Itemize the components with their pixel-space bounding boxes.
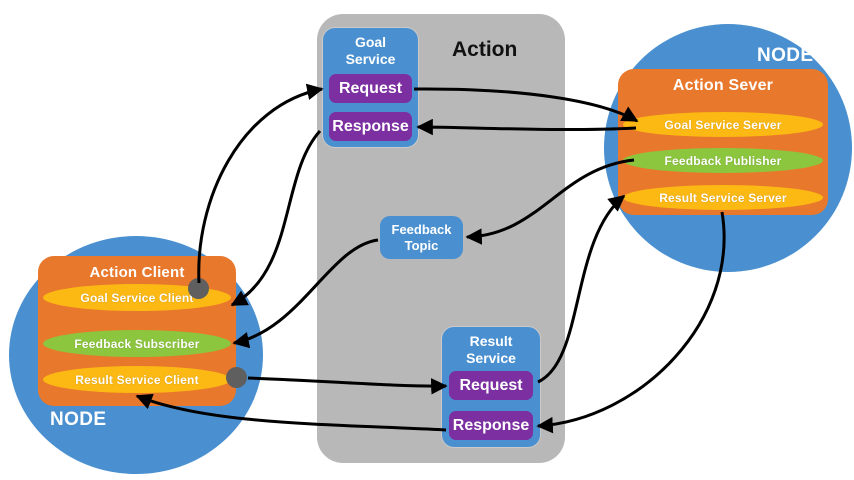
goal-service-request[interactable]: Request <box>329 74 412 103</box>
result-service-response[interactable]: Response <box>449 411 533 440</box>
diagram-canvas: Action NODE Action Client Goal Service C… <box>0 0 854 480</box>
feedback-topic-line2: Topic <box>405 238 439 253</box>
goal-service-title-line2: Service <box>346 51 396 67</box>
pill-feedback-publisher[interactable]: Feedback Publisher <box>623 148 823 173</box>
result-service-title-line2: Service <box>466 350 516 366</box>
pill-feedback-subscriber[interactable]: Feedback Subscriber <box>43 330 231 357</box>
goal-service-title: Goal Service <box>323 34 418 68</box>
pill-label: Feedback Subscriber <box>74 337 199 351</box>
pill-goal-service-server[interactable]: Goal Service Server <box>623 112 823 137</box>
pill-label: Goal Service Server <box>664 118 781 132</box>
result-service-title-line1: Result <box>470 333 513 349</box>
action-server-title: Action Sever <box>618 77 828 95</box>
pill-label: Result Service Server <box>659 191 787 205</box>
action-client-title: Action Client <box>38 264 236 281</box>
feedback-topic-box[interactable]: Feedback Topic <box>380 216 463 259</box>
pill-label: Result Service Client <box>75 373 199 387</box>
action-panel-title: Action <box>452 38 517 62</box>
arrow-goal-client-to-request <box>199 89 322 283</box>
connector-dot-goal-client <box>188 278 209 299</box>
goal-service-response[interactable]: Response <box>329 112 412 141</box>
goal-service-request-label: Request <box>339 80 402 98</box>
connector-dot-result-client <box>226 367 247 388</box>
result-service-request-label: Request <box>459 377 522 395</box>
feedback-topic-line1: Feedback <box>392 222 452 237</box>
result-service-response-label: Response <box>453 417 529 435</box>
result-service-title: Result Service <box>442 333 540 367</box>
pill-label: Feedback Publisher <box>665 154 782 168</box>
pill-result-service-server[interactable]: Result Service Server <box>623 185 823 210</box>
server-node-label: NODE <box>757 45 814 67</box>
result-service-request[interactable]: Request <box>449 371 533 400</box>
goal-service-response-label: Response <box>332 118 408 136</box>
goal-service-title-line1: Goal <box>355 34 386 50</box>
pill-result-service-client[interactable]: Result Service Client <box>43 366 231 393</box>
arrow-goal-response-to-client <box>232 131 320 305</box>
client-node-label: NODE <box>50 409 107 431</box>
pill-label: Goal Service Client <box>80 291 193 305</box>
